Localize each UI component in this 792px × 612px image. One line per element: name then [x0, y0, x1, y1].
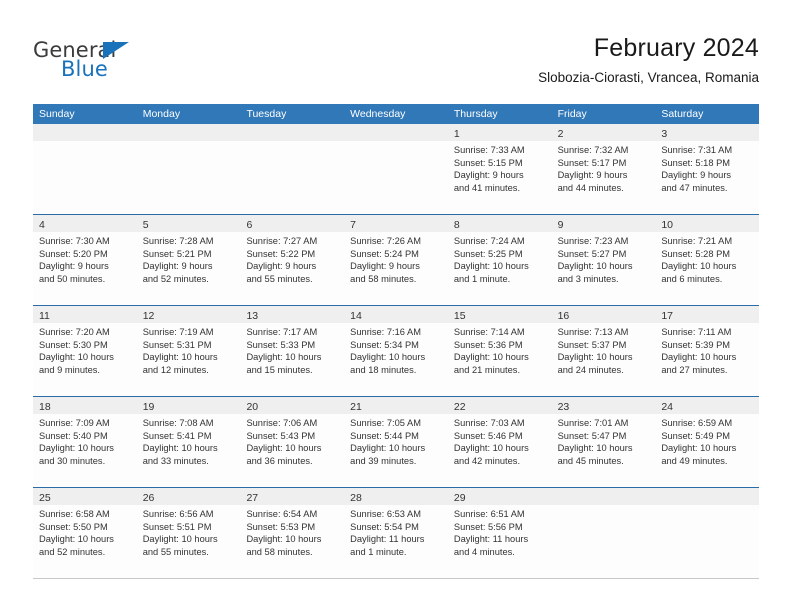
day-detail-line: Daylight: 9 hours [246, 260, 338, 273]
day-detail-line: and 36 minutes. [246, 455, 338, 468]
day-number: 10 [661, 219, 673, 231]
day-number-band: 7 [344, 215, 448, 232]
calendar-empty-cell [240, 124, 344, 214]
day-number: 16 [558, 310, 570, 322]
day-detail-text: Sunrise: 7:03 AMSunset: 5:46 PMDaylight:… [448, 414, 552, 467]
day-detail-text: Sunrise: 7:19 AMSunset: 5:31 PMDaylight:… [137, 323, 241, 376]
day-detail-text: Sunrise: 7:28 AMSunset: 5:21 PMDaylight:… [137, 232, 241, 285]
day-detail-line: Sunset: 5:27 PM [558, 248, 650, 261]
day-number: 24 [661, 401, 673, 413]
day-detail-line: Daylight: 11 hours [454, 533, 546, 546]
day-detail-text: Sunrise: 7:21 AMSunset: 5:28 PMDaylight:… [655, 232, 759, 285]
day-detail-line: Sunrise: 7:03 AM [454, 417, 546, 430]
day-detail-line: Sunset: 5:31 PM [143, 339, 235, 352]
day-number-band: 3 [655, 124, 759, 141]
day-detail-line: Sunrise: 7:14 AM [454, 326, 546, 339]
day-detail-line: Sunrise: 7:30 AM [39, 235, 131, 248]
day-detail-line: Daylight: 10 hours [350, 442, 442, 455]
day-detail-text: Sunrise: 7:01 AMSunset: 5:47 PMDaylight:… [552, 414, 656, 467]
day-number-band: 22 [448, 397, 552, 414]
day-detail-line: Sunrise: 7:24 AM [454, 235, 546, 248]
day-detail-line: and 45 minutes. [558, 455, 650, 468]
page-header: General Blue February 2024 Slobozia-Cior… [0, 0, 792, 104]
day-detail-line: Sunset: 5:51 PM [143, 521, 235, 534]
page-title: February 2024 [538, 32, 759, 64]
day-number: 7 [350, 219, 356, 231]
day-detail-line: Daylight: 9 hours [350, 260, 442, 273]
day-detail-text [240, 141, 344, 144]
calendar-week-row: 11Sunrise: 7:20 AMSunset: 5:30 PMDayligh… [33, 306, 759, 397]
day-detail-line: and 6 minutes. [661, 273, 753, 286]
day-detail-line: Sunset: 5:53 PM [246, 521, 338, 534]
day-number: 28 [350, 492, 362, 504]
day-number: 23 [558, 401, 570, 413]
day-number-band: 8 [448, 215, 552, 232]
day-detail-text [344, 141, 448, 144]
day-detail-line: and 55 minutes. [143, 546, 235, 559]
day-detail-line: and 50 minutes. [39, 273, 131, 286]
weekday-header-thursday: Thursday [448, 104, 552, 124]
day-detail-line: and 33 minutes. [143, 455, 235, 468]
day-detail-line: Sunset: 5:47 PM [558, 430, 650, 443]
day-number-band: 17 [655, 306, 759, 323]
day-number-band [33, 124, 137, 141]
day-detail-text: Sunrise: 7:13 AMSunset: 5:37 PMDaylight:… [552, 323, 656, 376]
calendar-day-cell[interactable]: 21Sunrise: 7:05 AMSunset: 5:44 PMDayligh… [344, 397, 448, 487]
calendar-day-cell[interactable]: 10Sunrise: 7:21 AMSunset: 5:28 PMDayligh… [655, 215, 759, 305]
calendar-day-cell[interactable]: 28Sunrise: 6:53 AMSunset: 5:54 PMDayligh… [344, 488, 448, 578]
day-detail-line: and 47 minutes. [661, 182, 753, 195]
day-detail-line: Sunset: 5:25 PM [454, 248, 546, 261]
day-detail-line: Sunrise: 7:23 AM [558, 235, 650, 248]
day-detail-line: Sunset: 5:20 PM [39, 248, 131, 261]
day-number: 6 [246, 219, 252, 231]
day-number: 21 [350, 401, 362, 413]
day-detail-line: and 52 minutes. [39, 546, 131, 559]
calendar-week-row: 25Sunrise: 6:58 AMSunset: 5:50 PMDayligh… [33, 488, 759, 579]
day-detail-line: Sunset: 5:43 PM [246, 430, 338, 443]
calendar-day-cell[interactable]: 8Sunrise: 7:24 AMSunset: 5:25 PMDaylight… [448, 215, 552, 305]
calendar-day-cell[interactable]: 11Sunrise: 7:20 AMSunset: 5:30 PMDayligh… [33, 306, 137, 396]
day-detail-line: and 15 minutes. [246, 364, 338, 377]
day-detail-line: Sunrise: 6:59 AM [661, 417, 753, 430]
day-detail-line: and 58 minutes. [350, 273, 442, 286]
day-detail-line: Sunrise: 7:11 AM [661, 326, 753, 339]
day-detail-line: Sunrise: 7:17 AM [246, 326, 338, 339]
day-detail-line: Sunrise: 7:16 AM [350, 326, 442, 339]
calendar-day-cell[interactable]: 19Sunrise: 7:08 AMSunset: 5:41 PMDayligh… [137, 397, 241, 487]
day-detail-line: and 44 minutes. [558, 182, 650, 195]
day-detail-line: and 49 minutes. [661, 455, 753, 468]
calendar-empty-cell [552, 488, 656, 578]
calendar-day-cell[interactable]: 18Sunrise: 7:09 AMSunset: 5:40 PMDayligh… [33, 397, 137, 487]
day-detail-line: Sunrise: 7:08 AM [143, 417, 235, 430]
day-detail-text: Sunrise: 7:33 AMSunset: 5:15 PMDaylight:… [448, 141, 552, 194]
calendar-day-cell[interactable]: 22Sunrise: 7:03 AMSunset: 5:46 PMDayligh… [448, 397, 552, 487]
day-detail-line: Sunset: 5:49 PM [661, 430, 753, 443]
day-detail-line: and 42 minutes. [454, 455, 546, 468]
day-number-band: 26 [137, 488, 241, 505]
day-detail-line: Sunrise: 7:21 AM [661, 235, 753, 248]
calendar-empty-cell [33, 124, 137, 214]
weekday-header-row: SundayMondayTuesdayWednesdayThursdayFrid… [33, 104, 759, 124]
weekday-header-tuesday: Tuesday [240, 104, 344, 124]
day-number: 25 [39, 492, 51, 504]
day-number-band [552, 488, 656, 505]
weekday-header-saturday: Saturday [655, 104, 759, 124]
calendar-day-cell[interactable]: 20Sunrise: 7:06 AMSunset: 5:43 PMDayligh… [240, 397, 344, 487]
day-detail-line: Daylight: 10 hours [39, 533, 131, 546]
calendar-day-cell[interactable]: 23Sunrise: 7:01 AMSunset: 5:47 PMDayligh… [552, 397, 656, 487]
day-number-band: 10 [655, 215, 759, 232]
day-detail-line: Sunset: 5:41 PM [143, 430, 235, 443]
day-number-band: 18 [33, 397, 137, 414]
day-detail-line: Daylight: 10 hours [454, 260, 546, 273]
day-number-band: 6 [240, 215, 344, 232]
day-detail-line: Daylight: 10 hours [246, 351, 338, 364]
day-detail-line: and 52 minutes. [143, 273, 235, 286]
day-detail-text: Sunrise: 7:11 AMSunset: 5:39 PMDaylight:… [655, 323, 759, 376]
day-number-band: 2 [552, 124, 656, 141]
day-number: 14 [350, 310, 362, 322]
day-detail-line: Sunset: 5:22 PM [246, 248, 338, 261]
day-detail-line: and 4 minutes. [454, 546, 546, 559]
day-number-band: 25 [33, 488, 137, 505]
day-detail-line: Sunrise: 7:09 AM [39, 417, 131, 430]
day-detail-line: and 55 minutes. [246, 273, 338, 286]
day-detail-line: Sunset: 5:54 PM [350, 521, 442, 534]
calendar-empty-cell [137, 124, 241, 214]
day-detail-text: Sunrise: 7:31 AMSunset: 5:18 PMDaylight:… [655, 141, 759, 194]
day-number: 4 [39, 219, 45, 231]
day-detail-line: Daylight: 10 hours [143, 533, 235, 546]
day-number-band: 27 [240, 488, 344, 505]
day-detail-text: Sunrise: 7:17 AMSunset: 5:33 PMDaylight:… [240, 323, 344, 376]
day-detail-line: Sunset: 5:36 PM [454, 339, 546, 352]
calendar-week-row: 18Sunrise: 7:09 AMSunset: 5:40 PMDayligh… [33, 397, 759, 488]
day-detail-text: Sunrise: 6:59 AMSunset: 5:49 PMDaylight:… [655, 414, 759, 467]
day-number-band: 24 [655, 397, 759, 414]
day-detail-line: Daylight: 9 hours [143, 260, 235, 273]
day-detail-text: Sunrise: 7:27 AMSunset: 5:22 PMDaylight:… [240, 232, 344, 285]
day-detail-line: and 9 minutes. [39, 364, 131, 377]
day-number: 19 [143, 401, 155, 413]
day-detail-line: Sunrise: 6:53 AM [350, 508, 442, 521]
day-number: 29 [454, 492, 466, 504]
day-detail-line: Sunrise: 7:31 AM [661, 144, 753, 157]
day-detail-text: Sunrise: 7:08 AMSunset: 5:41 PMDaylight:… [137, 414, 241, 467]
day-number-band [240, 124, 344, 141]
day-detail-line: Sunrise: 7:26 AM [350, 235, 442, 248]
day-detail-line: Sunset: 5:56 PM [454, 521, 546, 534]
day-detail-line: Sunrise: 7:33 AM [454, 144, 546, 157]
day-number-band: 28 [344, 488, 448, 505]
day-detail-text [137, 141, 241, 144]
day-number-band: 1 [448, 124, 552, 141]
day-detail-line: Sunset: 5:18 PM [661, 157, 753, 170]
day-number: 20 [246, 401, 258, 413]
day-detail-line: Sunset: 5:46 PM [454, 430, 546, 443]
day-number-band: 5 [137, 215, 241, 232]
day-detail-line: and 3 minutes. [558, 273, 650, 286]
day-detail-line: Daylight: 11 hours [350, 533, 442, 546]
day-detail-text: Sunrise: 7:32 AMSunset: 5:17 PMDaylight:… [552, 141, 656, 194]
day-detail-line: Sunrise: 7:05 AM [350, 417, 442, 430]
day-detail-line: Daylight: 10 hours [143, 442, 235, 455]
title-block: February 2024 Slobozia-Ciorasti, Vrancea… [538, 32, 759, 86]
day-detail-line: Sunrise: 6:58 AM [39, 508, 131, 521]
day-detail-line: Daylight: 10 hours [246, 442, 338, 455]
day-detail-text: Sunrise: 6:58 AMSunset: 5:50 PMDaylight:… [33, 505, 137, 558]
day-number-band: 16 [552, 306, 656, 323]
day-detail-line: Sunrise: 7:19 AM [143, 326, 235, 339]
calendar-day-cell[interactable]: 24Sunrise: 6:59 AMSunset: 5:49 PMDayligh… [655, 397, 759, 487]
day-detail-line: Daylight: 10 hours [454, 351, 546, 364]
day-detail-text [33, 141, 137, 144]
day-detail-text: Sunrise: 7:26 AMSunset: 5:24 PMDaylight:… [344, 232, 448, 285]
day-number-band [344, 124, 448, 141]
calendar-day-cell[interactable]: 15Sunrise: 7:14 AMSunset: 5:36 PMDayligh… [448, 306, 552, 396]
day-detail-line: Sunset: 5:17 PM [558, 157, 650, 170]
day-detail-line: Sunrise: 7:13 AM [558, 326, 650, 339]
day-detail-line: Sunrise: 7:28 AM [143, 235, 235, 248]
day-detail-line: and 24 minutes. [558, 364, 650, 377]
weekday-header-wednesday: Wednesday [344, 104, 448, 124]
day-number: 27 [246, 492, 258, 504]
day-number: 8 [454, 219, 460, 231]
day-detail-text: Sunrise: 7:30 AMSunset: 5:20 PMDaylight:… [33, 232, 137, 285]
day-detail-line: and 27 minutes. [661, 364, 753, 377]
day-detail-text [552, 505, 656, 508]
day-number-band [137, 124, 241, 141]
day-detail-line: and 12 minutes. [143, 364, 235, 377]
day-detail-line: Sunset: 5:39 PM [661, 339, 753, 352]
day-detail-line: and 21 minutes. [454, 364, 546, 377]
weekday-header-monday: Monday [137, 104, 241, 124]
calendar-day-cell[interactable]: 16Sunrise: 7:13 AMSunset: 5:37 PMDayligh… [552, 306, 656, 396]
calendar-day-cell[interactable]: 25Sunrise: 6:58 AMSunset: 5:50 PMDayligh… [33, 488, 137, 578]
day-detail-line: Sunset: 5:50 PM [39, 521, 131, 534]
day-detail-line: Daylight: 10 hours [39, 442, 131, 455]
day-detail-line: Daylight: 9 hours [39, 260, 131, 273]
day-number-band: 4 [33, 215, 137, 232]
page-subtitle: Slobozia-Ciorasti, Vrancea, Romania [538, 69, 759, 86]
day-detail-text: Sunrise: 6:53 AMSunset: 5:54 PMDaylight:… [344, 505, 448, 558]
day-detail-line: Sunset: 5:28 PM [661, 248, 753, 261]
day-detail-line: Sunset: 5:15 PM [454, 157, 546, 170]
weekday-header-sunday: Sunday [33, 104, 137, 124]
calendar-empty-cell [344, 124, 448, 214]
calendar-empty-cell [655, 488, 759, 578]
day-detail-line: Sunrise: 6:51 AM [454, 508, 546, 521]
day-detail-text: Sunrise: 7:24 AMSunset: 5:25 PMDaylight:… [448, 232, 552, 285]
calendar-day-cell[interactable]: 9Sunrise: 7:23 AMSunset: 5:27 PMDaylight… [552, 215, 656, 305]
day-detail-line: Daylight: 10 hours [558, 442, 650, 455]
day-detail-line: Sunrise: 7:27 AM [246, 235, 338, 248]
calendar-page: General Blue February 2024 Slobozia-Cior… [0, 0, 792, 612]
day-detail-line: Sunset: 5:37 PM [558, 339, 650, 352]
day-detail-line: Sunset: 5:24 PM [350, 248, 442, 261]
day-detail-line: Daylight: 10 hours [39, 351, 131, 364]
day-number: 17 [661, 310, 673, 322]
calendar-day-cell[interactable]: 1Sunrise: 7:33 AMSunset: 5:15 PMDaylight… [448, 124, 552, 214]
day-detail-line: Sunset: 5:33 PM [246, 339, 338, 352]
day-number-band: 23 [552, 397, 656, 414]
calendar-day-cell[interactable]: 27Sunrise: 6:54 AMSunset: 5:53 PMDayligh… [240, 488, 344, 578]
day-number: 11 [39, 310, 50, 322]
day-detail-text: Sunrise: 7:20 AMSunset: 5:30 PMDaylight:… [33, 323, 137, 376]
day-detail-line: Daylight: 9 hours [558, 169, 650, 182]
day-detail-line: Sunrise: 7:06 AM [246, 417, 338, 430]
day-number-band: 11 [33, 306, 137, 323]
day-detail-line: Daylight: 10 hours [246, 533, 338, 546]
day-number: 1 [454, 128, 460, 140]
day-detail-line: Sunrise: 7:20 AM [39, 326, 131, 339]
day-number: 12 [143, 310, 155, 322]
day-detail-text: Sunrise: 6:56 AMSunset: 5:51 PMDaylight:… [137, 505, 241, 558]
day-detail-text: Sunrise: 7:16 AMSunset: 5:34 PMDaylight:… [344, 323, 448, 376]
day-detail-line: Daylight: 9 hours [454, 169, 546, 182]
calendar-day-cell[interactable]: 26Sunrise: 6:56 AMSunset: 5:51 PMDayligh… [137, 488, 241, 578]
day-number-band: 14 [344, 306, 448, 323]
day-number: 18 [39, 401, 51, 413]
day-number-band [655, 488, 759, 505]
day-number: 5 [143, 219, 149, 231]
day-detail-text: Sunrise: 7:23 AMSunset: 5:27 PMDaylight:… [552, 232, 656, 285]
day-number: 26 [143, 492, 155, 504]
day-detail-text: Sunrise: 6:51 AMSunset: 5:56 PMDaylight:… [448, 505, 552, 558]
day-detail-line: Sunset: 5:21 PM [143, 248, 235, 261]
day-detail-line: and 1 minute. [454, 273, 546, 286]
day-number-band: 19 [137, 397, 241, 414]
day-number: 9 [558, 219, 564, 231]
day-detail-text [655, 505, 759, 508]
calendar-day-cell[interactable]: 7Sunrise: 7:26 AMSunset: 5:24 PMDaylight… [344, 215, 448, 305]
calendar-day-cell[interactable]: 2Sunrise: 7:32 AMSunset: 5:17 PMDaylight… [552, 124, 656, 214]
calendar-day-cell[interactable]: 17Sunrise: 7:11 AMSunset: 5:39 PMDayligh… [655, 306, 759, 396]
day-detail-line: and 1 minute. [350, 546, 442, 559]
day-detail-line: Daylight: 10 hours [454, 442, 546, 455]
day-number-band: 20 [240, 397, 344, 414]
calendar-day-cell[interactable]: 13Sunrise: 7:17 AMSunset: 5:33 PMDayligh… [240, 306, 344, 396]
day-number-band: 15 [448, 306, 552, 323]
calendar-day-cell[interactable]: 29Sunrise: 6:51 AMSunset: 5:56 PMDayligh… [448, 488, 552, 578]
day-detail-line: and 39 minutes. [350, 455, 442, 468]
day-detail-text: Sunrise: 6:54 AMSunset: 5:53 PMDaylight:… [240, 505, 344, 558]
day-detail-line: Sunrise: 6:54 AM [246, 508, 338, 521]
day-detail-line: Sunrise: 7:01 AM [558, 417, 650, 430]
day-detail-line: Sunrise: 7:32 AM [558, 144, 650, 157]
day-detail-line: Sunset: 5:34 PM [350, 339, 442, 352]
day-detail-line: and 41 minutes. [454, 182, 546, 195]
day-detail-line: Daylight: 10 hours [661, 351, 753, 364]
day-detail-line: Daylight: 10 hours [661, 442, 753, 455]
calendar-day-cell[interactable]: 3Sunrise: 7:31 AMSunset: 5:18 PMDaylight… [655, 124, 759, 214]
calendar-day-cell[interactable]: 5Sunrise: 7:28 AMSunset: 5:21 PMDaylight… [137, 215, 241, 305]
day-number: 2 [558, 128, 564, 140]
calendar-weeks: 1Sunrise: 7:33 AMSunset: 5:15 PMDaylight… [33, 124, 759, 579]
day-number: 22 [454, 401, 466, 413]
day-detail-text: Sunrise: 7:09 AMSunset: 5:40 PMDaylight:… [33, 414, 137, 467]
day-number-band: 13 [240, 306, 344, 323]
day-detail-line: and 30 minutes. [39, 455, 131, 468]
day-number: 3 [661, 128, 667, 140]
day-detail-line: Daylight: 10 hours [350, 351, 442, 364]
calendar-day-cell[interactable]: 12Sunrise: 7:19 AMSunset: 5:31 PMDayligh… [137, 306, 241, 396]
day-number-band: 21 [344, 397, 448, 414]
day-number-band: 29 [448, 488, 552, 505]
day-number-band: 12 [137, 306, 241, 323]
calendar-grid: SundayMondayTuesdayWednesdayThursdayFrid… [33, 104, 759, 579]
day-detail-line: Daylight: 10 hours [558, 351, 650, 364]
day-number: 13 [246, 310, 258, 322]
day-detail-line: and 58 minutes. [246, 546, 338, 559]
day-detail-line: and 18 minutes. [350, 364, 442, 377]
generalblue-logo[interactable]: General Blue [33, 38, 233, 86]
day-detail-line: Daylight: 10 hours [661, 260, 753, 273]
calendar-week-row: 1Sunrise: 7:33 AMSunset: 5:15 PMDaylight… [33, 124, 759, 215]
calendar-day-cell[interactable]: 14Sunrise: 7:16 AMSunset: 5:34 PMDayligh… [344, 306, 448, 396]
weekday-header-friday: Friday [552, 104, 656, 124]
day-detail-line: Daylight: 10 hours [558, 260, 650, 273]
day-detail-line: Sunset: 5:30 PM [39, 339, 131, 352]
day-detail-line: Sunset: 5:40 PM [39, 430, 131, 443]
calendar-day-cell[interactable]: 6Sunrise: 7:27 AMSunset: 5:22 PMDaylight… [240, 215, 344, 305]
calendar-week-row: 4Sunrise: 7:30 AMSunset: 5:20 PMDaylight… [33, 215, 759, 306]
day-number: 15 [454, 310, 466, 322]
day-detail-line: Daylight: 10 hours [143, 351, 235, 364]
day-number-band: 9 [552, 215, 656, 232]
day-detail-text: Sunrise: 7:14 AMSunset: 5:36 PMDaylight:… [448, 323, 552, 376]
day-detail-line: Daylight: 9 hours [661, 169, 753, 182]
day-detail-line: Sunset: 5:44 PM [350, 430, 442, 443]
day-detail-line: Sunrise: 6:56 AM [143, 508, 235, 521]
day-detail-text: Sunrise: 7:05 AMSunset: 5:44 PMDaylight:… [344, 414, 448, 467]
calendar-day-cell[interactable]: 4Sunrise: 7:30 AMSunset: 5:20 PMDaylight… [33, 215, 137, 305]
day-detail-text: Sunrise: 7:06 AMSunset: 5:43 PMDaylight:… [240, 414, 344, 467]
logo-text-blue: Blue [61, 57, 108, 81]
